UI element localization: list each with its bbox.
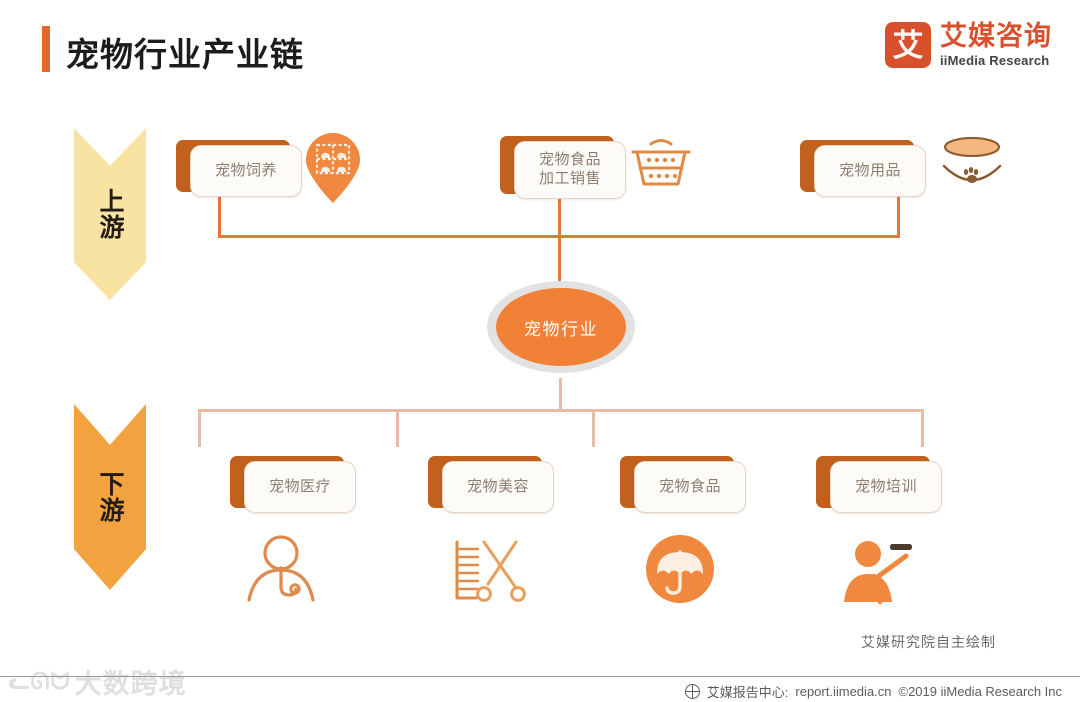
node-label-line2: 加工销售 <box>539 170 601 187</box>
connector-upstream-stub-3 <box>897 196 900 238</box>
credit-text: 艾媒研究院自主绘制 <box>861 632 996 652</box>
card-front-panel: 宠物食品 加工销售 <box>514 141 626 199</box>
trainer-icon <box>840 536 918 611</box>
stage-label-downstream: 下游 <box>96 471 124 523</box>
stage-label-upstream: 上游 <box>96 188 124 240</box>
card-front-panel: 宠物用品 <box>814 145 926 197</box>
footer-url[interactable]: report.iimedia.cn <box>795 684 891 699</box>
node-label: 宠物医疗 <box>269 478 331 497</box>
card-front-panel: 宠物饲养 <box>190 145 302 197</box>
card-front-panel: 宠物食品 <box>634 461 746 513</box>
connector-upstream-stub-2 <box>558 196 561 238</box>
watermark: ᓚᘏᗢ 大数跨境 <box>8 662 187 701</box>
logo-text: 艾媒咨询 iiMedia Research <box>940 22 1052 67</box>
card-front-panel: 宠物培训 <box>830 461 942 513</box>
node-card-downstream-3[interactable]: 宠物食品 <box>620 456 744 512</box>
node-card-upstream-2[interactable]: 宠物食品 加工销售 <box>500 136 624 200</box>
watermark-mark-icon: ᓚᘏᗢ <box>8 668 71 695</box>
infographic-page: 宠物行业产业链 艾 艾媒咨询 iiMedia Research 上游 下游 宠物… <box>0 0 1080 702</box>
title-accent-bar <box>42 26 50 72</box>
node-label: 宠物培训 <box>855 478 917 497</box>
footer-copyright: ©2019 iiMedia Research Inc <box>899 684 1063 699</box>
node-card-downstream-2[interactable]: 宠物美容 <box>428 456 552 512</box>
stage-arrow-upstream: 上游 <box>74 128 146 300</box>
node-label: 宠物饲养 <box>215 162 277 181</box>
node-card-upstream-3[interactable]: 宠物用品 <box>800 140 924 196</box>
logo-name-cn: 艾媒咨询 <box>940 22 1052 50</box>
node-label-line1: 宠物食品 <box>539 151 601 168</box>
center-hub-core: 宠物行业 <box>496 288 626 366</box>
center-hub-label: 宠物行业 <box>524 315 598 340</box>
connector-downstream-from-hub <box>559 378 562 411</box>
vet-doctor-icon <box>243 534 319 611</box>
node-label: 宠物用品 <box>839 162 901 181</box>
footer-bar: 艾媒报告中心: report.iimedia.cn ©2019 iiMedia … <box>685 682 1062 701</box>
pet-breeding-pin-icon <box>302 132 364 209</box>
connector-downstream-stub-2 <box>396 409 399 447</box>
connector-downstream-stub-4 <box>921 409 924 447</box>
stage-arrow-downstream: 下游 <box>74 404 146 590</box>
brand-logo: 艾 艾媒咨询 iiMedia Research <box>885 22 1052 68</box>
connector-downstream-bus <box>198 409 923 412</box>
node-card-downstream-1[interactable]: 宠物医疗 <box>230 456 354 512</box>
pet-carrier-icon <box>629 136 693 199</box>
pet-bowl-icon <box>936 134 1008 199</box>
node-label: 宠物食品 加工销售 <box>539 151 601 189</box>
connector-upstream-stub-1 <box>218 196 221 238</box>
node-card-upstream-1[interactable]: 宠物饲养 <box>176 140 300 196</box>
card-front-panel: 宠物美容 <box>442 461 554 513</box>
card-front-panel: 宠物医疗 <box>244 461 356 513</box>
connector-downstream-stub-1 <box>198 409 201 447</box>
node-label: 宠物食品 <box>659 478 721 497</box>
node-card-downstream-4[interactable]: 宠物培训 <box>816 456 940 512</box>
logo-mark-icon: 艾 <box>885 22 931 68</box>
watermark-text: 大数跨境 <box>75 662 187 701</box>
footer-divider <box>0 676 1080 677</box>
logo-name-en: iiMedia Research <box>940 53 1052 68</box>
connector-downstream-stub-3 <box>592 409 595 447</box>
node-label: 宠物美容 <box>467 478 529 497</box>
globe-icon <box>685 684 700 699</box>
umbrella-circle-icon <box>645 534 715 609</box>
comb-scissors-icon <box>448 536 532 611</box>
footer-label: 艾媒报告中心: <box>707 682 789 701</box>
center-hub-node[interactable]: 宠物行业 <box>487 281 635 373</box>
page-title: 宠物行业产业链 <box>66 28 304 76</box>
